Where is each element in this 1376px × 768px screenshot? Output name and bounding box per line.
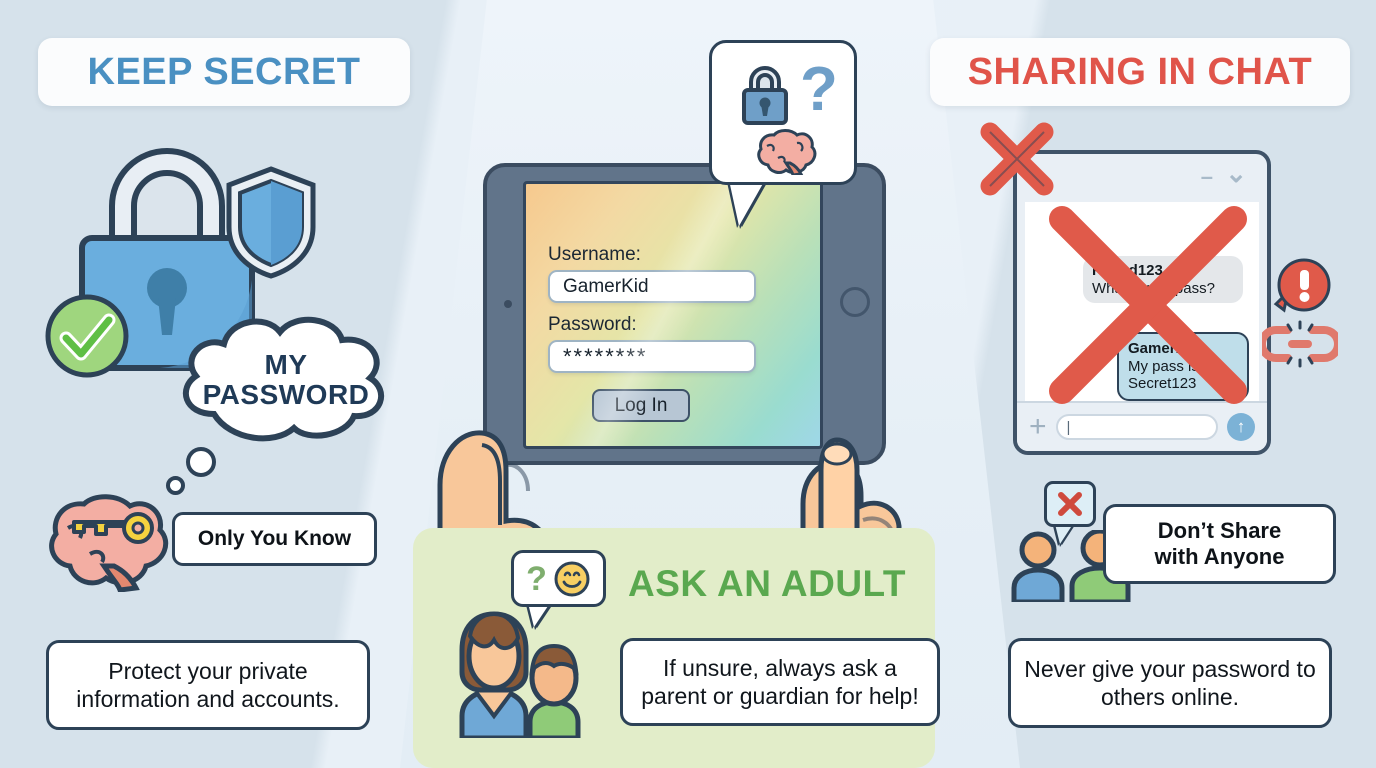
tablet-camera-icon	[504, 300, 512, 308]
username-label: Username:	[548, 244, 641, 266]
green-check-icon	[44, 293, 130, 379]
smiley-face-icon	[553, 560, 591, 598]
dont-share-label: Don’t Share with Anyone	[1103, 504, 1336, 584]
add-attachment-icon[interactable]: +	[1029, 412, 1047, 442]
lock-icon	[738, 63, 792, 125]
chevron-down-icon[interactable]: ⌄	[1225, 158, 1247, 189]
password-label: Password:	[548, 314, 637, 336]
ask-an-adult-title: ASK AN ADULT	[628, 563, 906, 605]
ask-thought-bubble: ?	[511, 550, 606, 607]
red-x-icon	[1055, 489, 1085, 519]
note-protect-info-text: Protect your private information and acc…	[61, 657, 355, 713]
thought-cloud-line2: PASSWORD	[203, 380, 370, 410]
chat-input-field[interactable]: |	[1056, 414, 1218, 440]
password-input[interactable]: ********	[548, 340, 756, 373]
login-button-label: Log In	[615, 395, 668, 417]
login-button[interactable]: Log In	[592, 389, 690, 422]
header-keep-secret: KEEP SECRET	[38, 38, 410, 106]
note-never-give-password: Never give your password to others onlin…	[1008, 638, 1332, 728]
brain-icon	[756, 129, 818, 175]
question-mark-icon: ?	[526, 562, 547, 596]
shield-icon	[225, 165, 317, 280]
header-sharing-in-chat-label: SHARING IN CHAT	[968, 51, 1313, 94]
dont-share-line2: with Anyone	[1155, 544, 1285, 570]
tablet-thought-bubble: ?	[709, 40, 857, 185]
chat-input-bar: + | ↑	[1017, 401, 1267, 451]
red-x-cross-icon	[1048, 205, 1248, 405]
thought-cloud-text: MY PASSWORD	[168, 310, 404, 450]
red-x-corner-icon	[978, 120, 1056, 198]
thought-cloud-line1: MY	[265, 350, 308, 380]
only-you-know-text: Only You Know	[198, 527, 351, 551]
note-ask-parent: If unsure, always ask a parent or guardi…	[620, 638, 940, 726]
header-sharing-in-chat: SHARING IN CHAT	[930, 38, 1350, 106]
parent-and-child-icon	[432, 598, 607, 738]
thought-cloud: MY PASSWORD	[168, 310, 404, 450]
question-mark-icon: ?	[800, 61, 838, 120]
tablet-home-button[interactable]	[840, 287, 870, 317]
minimize-icon[interactable]: –	[1201, 164, 1213, 190]
note-protect-info: Protect your private information and acc…	[46, 640, 370, 730]
only-you-know-label: Only You Know	[172, 512, 377, 566]
note-never-give-password-text: Never give your password to others onlin…	[1023, 655, 1317, 711]
brain-key-icon	[44, 492, 184, 592]
broken-link-icon	[1262, 320, 1338, 368]
dont-share-line1: Don’t Share	[1158, 518, 1281, 544]
thought-bubble-dot-large	[186, 447, 216, 477]
alert-exclamation-icon	[1272, 258, 1332, 320]
no-share-bubble	[1044, 481, 1096, 527]
tablet-bubble-tail	[729, 180, 765, 226]
send-icon[interactable]: ↑	[1227, 413, 1255, 441]
header-keep-secret-label: KEEP SECRET	[88, 51, 361, 94]
note-ask-parent-text: If unsure, always ask a parent or guardi…	[635, 654, 925, 710]
username-input[interactable]: GamerKid	[548, 270, 756, 303]
infographic-canvas: KEEP SECRET SHARING IN CHAT MY PASSWORD	[0, 0, 1376, 768]
